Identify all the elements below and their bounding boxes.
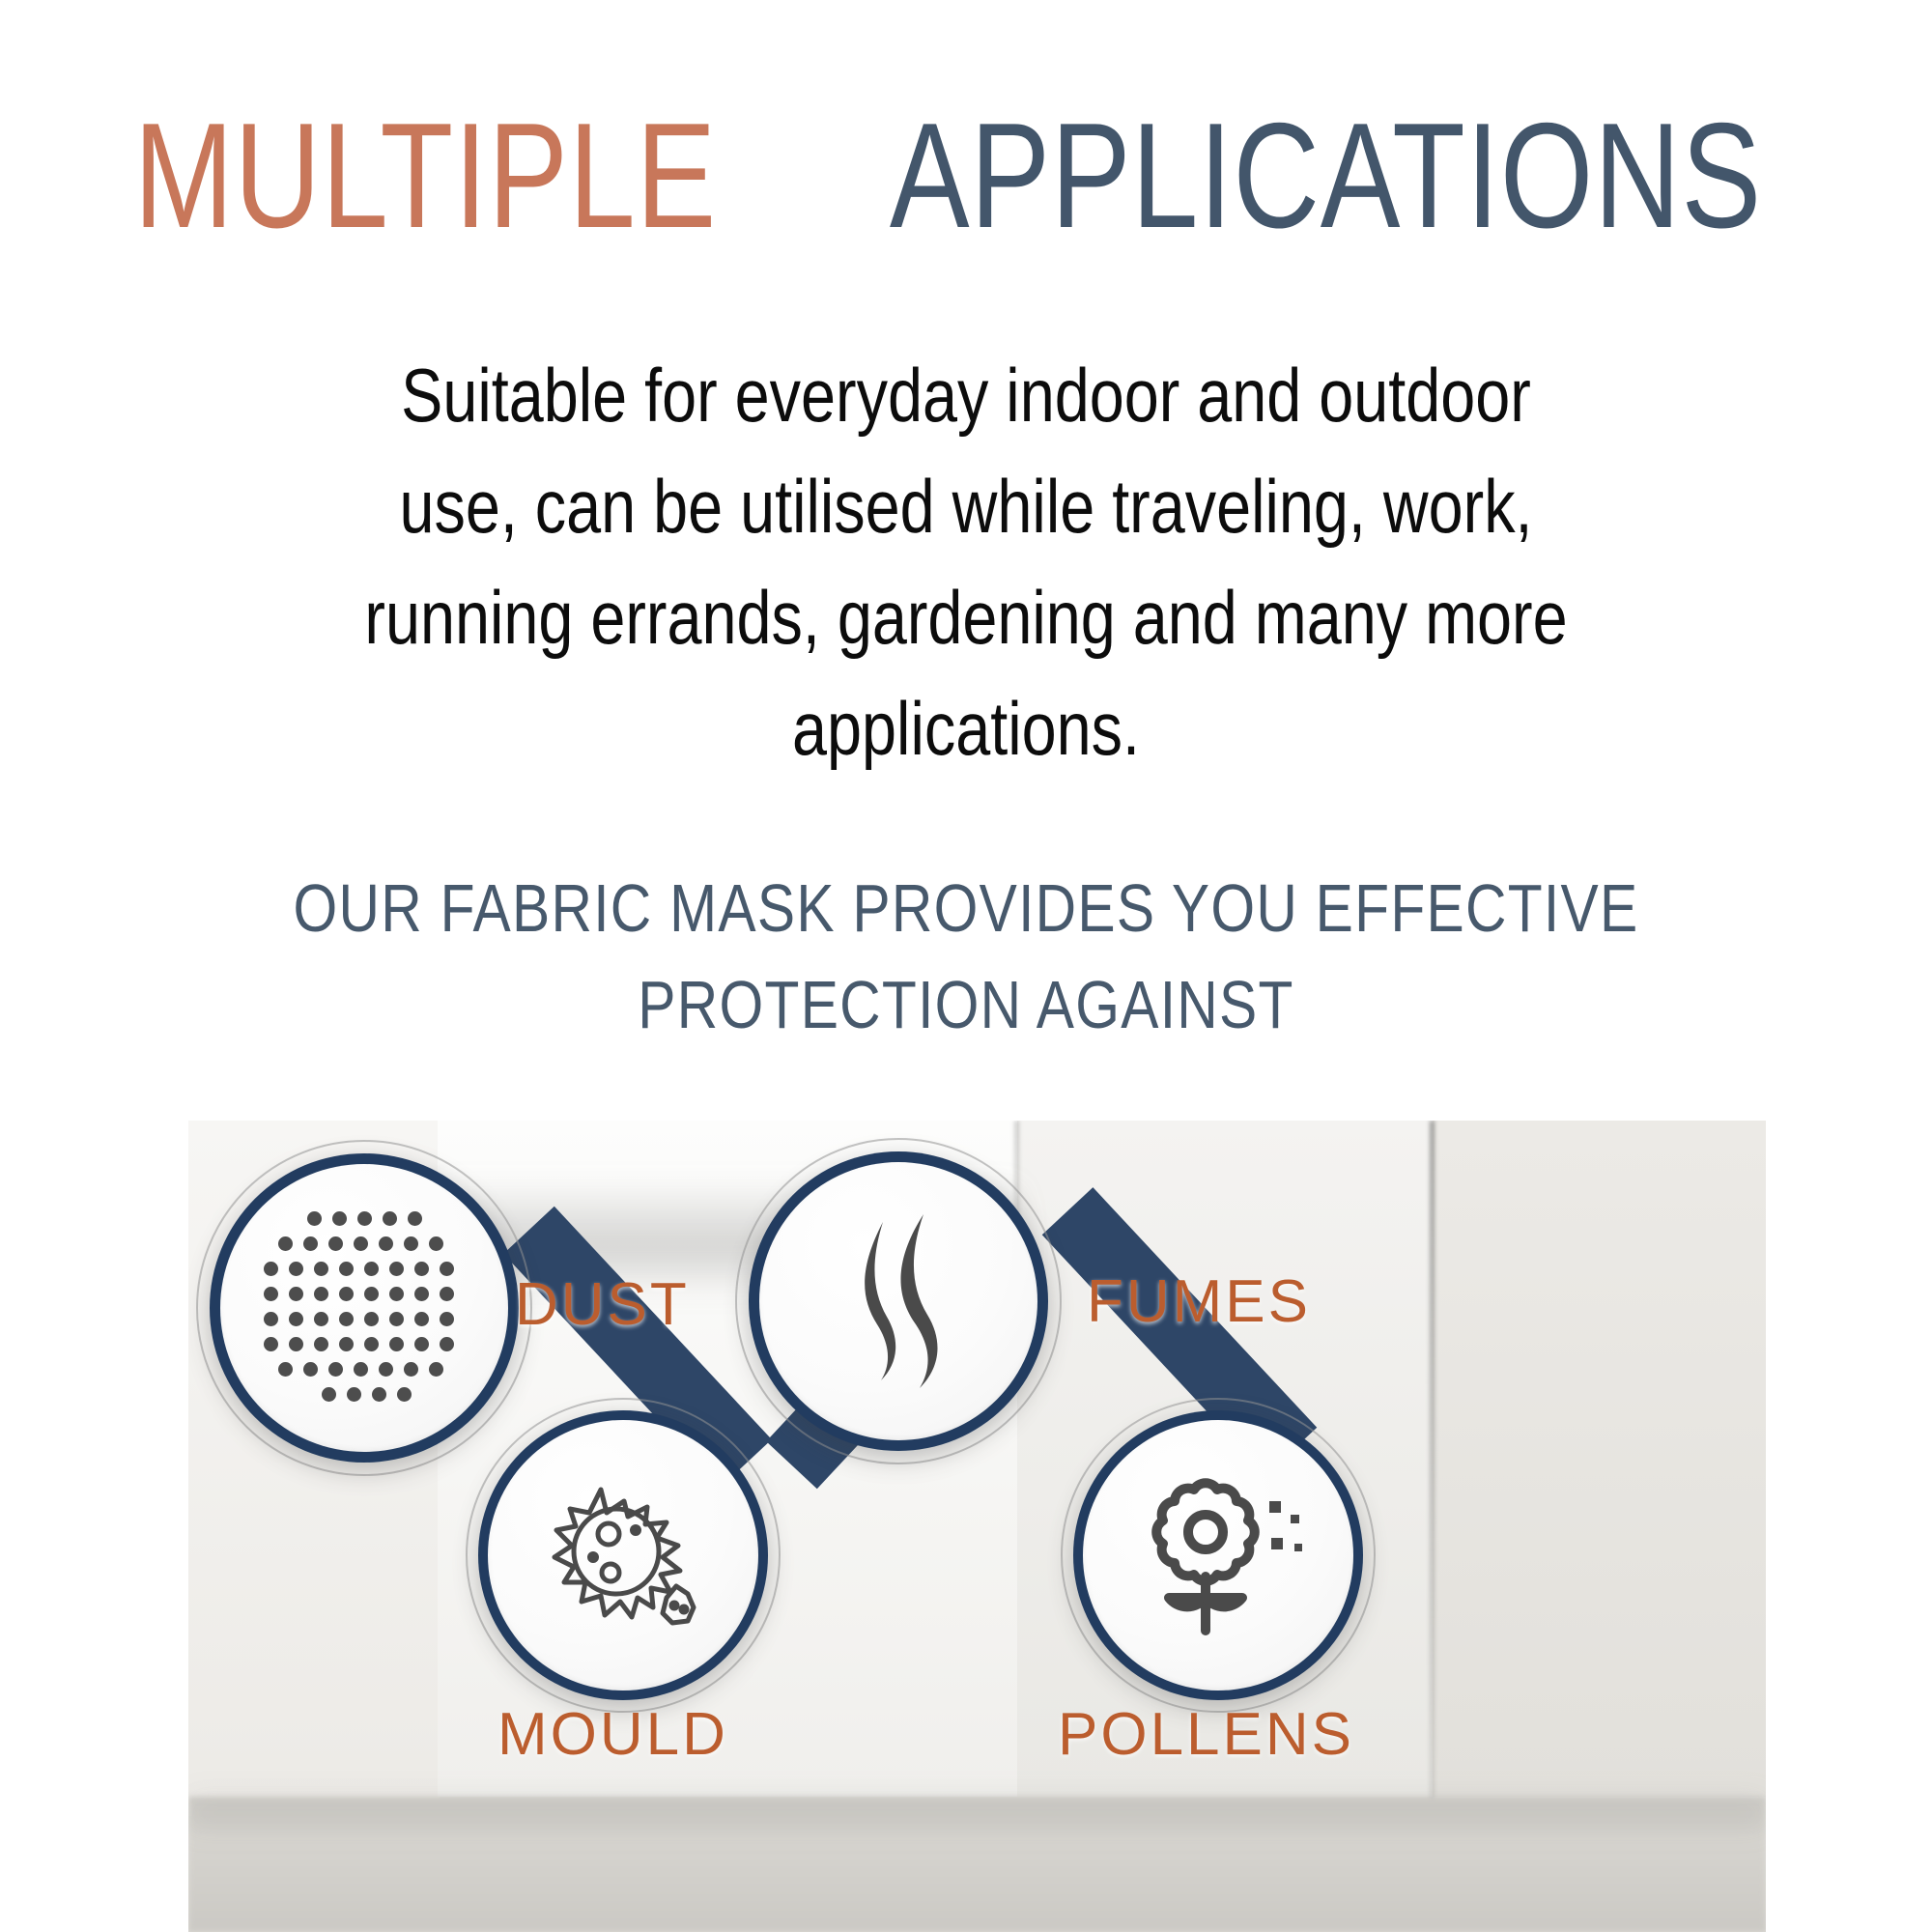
page-title: MULTIPLE APPLICATIONS: [0, 100, 1932, 250]
node-mould-face: [488, 1420, 758, 1690]
dust-dots-icon: [253, 1197, 475, 1419]
sub-heading: OUR FABRIC MASK PROVIDES YOU EFFECTIVE P…: [97, 860, 1835, 1053]
photo-background-floor-shadow: [188, 1787, 1766, 1835]
protection-diagram-photo: DUST FUMES: [188, 1121, 1766, 1932]
body-paragraph-line: use, can be utilised while traveling, wo…: [244, 451, 1688, 562]
node-dust[interactable]: [210, 1153, 519, 1463]
node-mould[interactable]: [478, 1410, 768, 1700]
body-paragraph-line: Suitable for everyday indoor and outdoor: [244, 340, 1688, 451]
flower-icon: [1126, 1468, 1310, 1642]
body-paragraph-line: applications.: [244, 673, 1688, 784]
page-title-word-multiple: MULTIPLE: [134, 100, 718, 250]
node-label-pollens: POLLENS: [1058, 1700, 1354, 1769]
body-paragraph-line: running errands, gardening and many more: [244, 562, 1688, 673]
photo-background-seam: [1430, 1121, 1435, 1802]
node-fumes[interactable]: [749, 1151, 1048, 1451]
node-pollens-face: [1083, 1420, 1353, 1690]
spore-virus-icon: [531, 1468, 715, 1642]
node-label-fumes: FUMES: [1087, 1267, 1311, 1336]
sub-heading-line: OUR FABRIC MASK PROVIDES YOU EFFECTIVE: [236, 860, 1696, 956]
node-fumes-face: [759, 1162, 1037, 1440]
smoke-waves-icon: [831, 1205, 966, 1398]
node-label-dust: DUST: [515, 1270, 690, 1339]
body-paragraph: Suitable for everyday indoor and outdoor…: [97, 340, 1835, 784]
node-dust-face: [220, 1164, 508, 1452]
photo-background-panel: [1433, 1121, 1766, 1797]
page-title-word-applications: APPLICATIONS: [890, 100, 1762, 250]
node-label-mould: MOULD: [497, 1700, 728, 1769]
sub-heading-line: PROTECTION AGAINST: [236, 956, 1696, 1053]
node-pollens[interactable]: [1073, 1410, 1363, 1700]
